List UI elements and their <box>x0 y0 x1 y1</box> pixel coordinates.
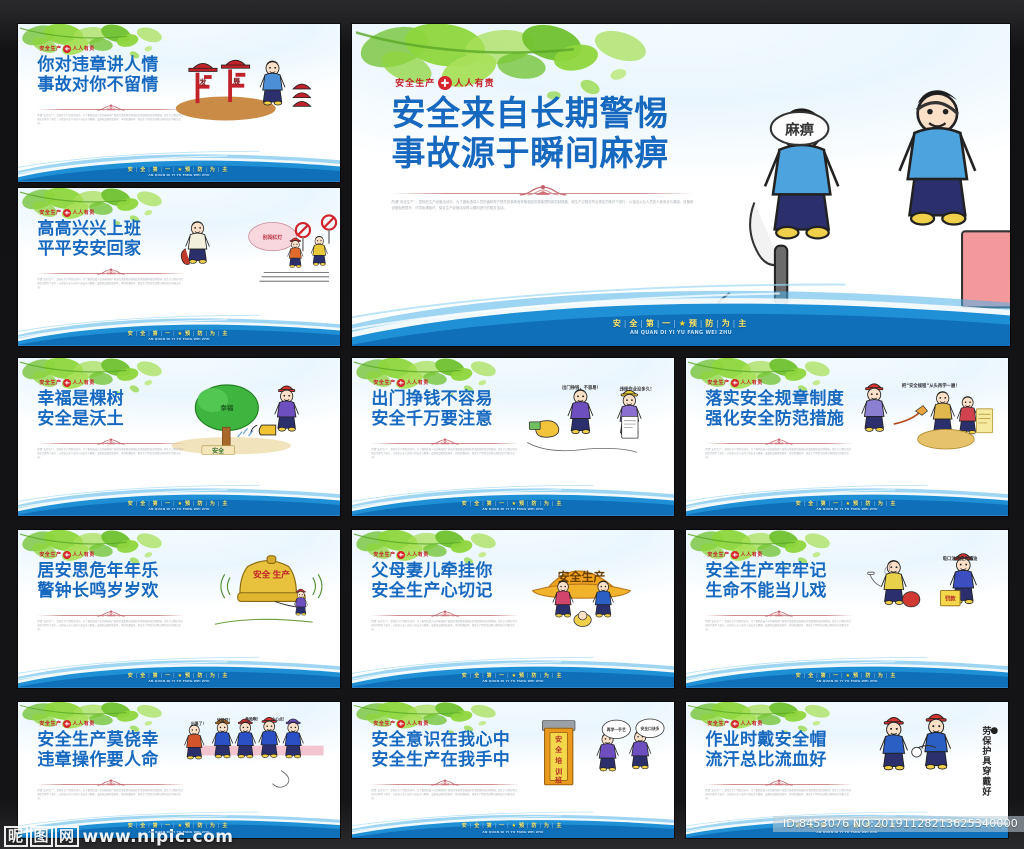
footer-cn-char: 主 <box>222 331 230 337</box>
ornament-divider <box>391 183 694 199</box>
ornament-knot-icon <box>428 778 462 788</box>
footer-cn-char: 防 <box>705 319 716 328</box>
safety-badge: 安全生产 人人有责 <box>705 379 853 387</box>
poster-panel[interactable]: 麻痹 安全生产 人人有责 <box>352 24 1010 346</box>
footer-slogan-cn: 安|全|第|一|★预|防|为|主 <box>18 166 340 173</box>
poster-panel[interactable]: 安 全 培 训 班 <box>352 702 674 838</box>
footer-cn-char: 预 <box>185 501 193 507</box>
svg-text:再学一手艺: 再学一手艺 <box>607 727 626 732</box>
footer-cn-char: 主 <box>222 167 230 173</box>
panel-headline: 居安思危年年乐 警钟长鸣岁岁欢 <box>37 561 185 601</box>
panel-artwork: 安全生产 <box>500 539 674 643</box>
footer-cn-char: 第 <box>153 167 161 173</box>
badge-left-text: 安全生产 <box>707 720 729 727</box>
headline-line-1: 作业时戴安全帽 <box>705 730 853 750</box>
panel-text-column: 安全生产 人人有责 父母妻儿牵挂你 安全生产心切记 所谓“安全生产”，是指在生产… <box>371 551 519 632</box>
panel-text-column: 安全生产 人人有责 落实安全规章制度 强化安全防范措施 所谓“安全生产”，是指在… <box>705 379 853 460</box>
footer-cn-char: 主 <box>738 319 749 328</box>
panel-text-column: 安全生产 人人有责 高高兴兴上班 平平安安回家 所谓“安全生产”，是指在生产经营… <box>37 209 185 290</box>
footer-cn-char: 预 <box>185 167 193 173</box>
footer-cn-char: 全 <box>140 673 148 679</box>
panel-headline: 出门挣钱不容易 安全千万要注意 <box>371 389 519 429</box>
headline-line-1: 幸福是棵树 <box>37 389 185 409</box>
poster-sheet-background: 发 展 <box>0 0 1024 849</box>
footer-slogan-cn: 安|全|第|一|★预|防|为|主 <box>686 672 1008 679</box>
panel-text-column: 安全生产 人人有责 居安思危年年乐 警钟长鸣岁岁欢 所谓“安全生产”，是指在生产… <box>37 551 185 632</box>
footer-cn-char: 第 <box>487 823 495 829</box>
panel-footer: 安|全|第|一|★预|防|为|主 AN QUAN DI YI YU FANG W… <box>686 500 1008 512</box>
footer-slogan-cn: 安|全|第|一|★预|防|为|主 <box>686 500 1008 507</box>
footer-cn-char: 预 <box>185 331 193 337</box>
footer-cn-char: 预 <box>519 823 527 829</box>
footer-cn-char: 为 <box>878 501 886 507</box>
footer-star-icon: ★ <box>178 673 185 679</box>
footer-star-icon: ★ <box>846 673 853 679</box>
footer-star-icon: ★ <box>846 501 853 507</box>
headline-line-1: 落实安全规章制度 <box>705 389 853 409</box>
ornament-knot-icon <box>762 609 796 619</box>
footer-cn-char: 安 <box>796 501 804 507</box>
panel-footer: 安|全|第|一|★预|防|为|主 AN QUAN DI YI YU FANG W… <box>352 500 674 512</box>
panel-artwork: 幸福 安全 <box>166 367 340 471</box>
footer-slogan-pinyin: AN QUAN DI YI YU FANG WEI ZHU <box>352 679 674 683</box>
footer-star-icon: ★ <box>178 167 185 173</box>
footer-cn-char: 安 <box>462 673 470 679</box>
panel-headline: 安全生产莫侥幸 违章操作要人命 <box>37 730 185 770</box>
ornament-knot-icon <box>428 437 462 447</box>
panel-blurb: 所谓“安全生产”，是指在生产经营活动中，为了避免造成人员伤害和财产损失的事故而采… <box>37 114 185 125</box>
poster-panel[interactable]: 安全 生产 安全生产 <box>18 530 340 688</box>
panel-blurb: 所谓“安全生产”，是指在生产经营活动中，为了避免造成人员伤害和财产损失的事故而采… <box>371 620 519 631</box>
badge-right-text: 人人有责 <box>73 379 95 386</box>
safety-badge: 安全生产 人人有责 <box>391 76 694 90</box>
watermark-cn-char: 图 <box>30 826 54 847</box>
headline-line-1: 父母妻儿牵挂你 <box>371 561 519 581</box>
svg-text:出门挣钱，不容易！: 出门挣钱，不容易！ <box>562 385 601 392</box>
footer-cn-char: 一 <box>833 501 841 507</box>
panel-footer: 安|全|第|一|★预|防|为|主 AN QUAN DI YI YU FANG W… <box>352 672 674 684</box>
footer-cn-char: 第 <box>487 673 495 679</box>
footer-cn-char: 第 <box>646 319 657 328</box>
poster-panel[interactable]: 出门挣钱，不容易！ 违规作业没多久！ 安全生产 人人有责 出门挣钱不容易 安全千… <box>352 358 674 516</box>
footer-slogan-pinyin: AN QUAN DI YI YU FANG WEI ZHU <box>18 173 340 177</box>
badge-right-text: 人人有责 <box>73 45 95 52</box>
svg-text:班: 班 <box>555 776 562 785</box>
ornament-divider <box>371 609 519 619</box>
headline-line-1: 安全生产莫侥幸 <box>37 730 185 750</box>
panel-footer: 安|全|第|一|★预|防|为|主 AN QUAN DI YI YU FANG W… <box>352 318 1010 336</box>
ornament-divider <box>37 609 185 619</box>
footer-star-icon: ★ <box>512 673 519 679</box>
footer-cn-char: 一 <box>499 673 507 679</box>
footer-slogan-pinyin: AN QUAN DI YI YU FANG WEI ZHU <box>686 507 1008 511</box>
safety-badge: 安全生产 人人有责 <box>37 209 185 217</box>
badge-left-text: 安全生产 <box>373 720 395 727</box>
image-id-strip: ID:8453076 NO:20191128213625340000 <box>773 816 1024 832</box>
badge-left-text: 安全生产 <box>39 551 61 558</box>
footer-cn-char: 安 <box>128 501 136 507</box>
panel-blurb: 所谓“安全生产”，是指在生产经营活动中，为了避免造成人员伤害和财产损失的事故而采… <box>37 448 185 459</box>
panel-text-column: 安全生产 人人有责 作业时戴安全帽 流汗总比流血好 所谓“安全生产”，是指在生产… <box>705 720 853 801</box>
bullet-icon: ● <box>989 726 998 797</box>
panel-artwork: 出事了！ 快躲开！ 危险啊！ 小心点！ <box>166 710 340 800</box>
footer-cn-char: 全 <box>140 501 148 507</box>
footer-slogan-cn: 安|全|第|一|★预|防|为|主 <box>352 672 674 679</box>
headline-line-2: 警钟长鸣岁岁欢 <box>37 581 185 601</box>
footer-slogan-cn: 安|全|第|一|★预|防|为|主 <box>18 672 340 679</box>
badge-left-text: 安全生产 <box>39 720 61 727</box>
panel-blurb: 所谓“安全生产”，是指在生产经营活动中，为了避免造成人员伤害和财产损失的事故而采… <box>705 448 853 459</box>
poster-panel[interactable]: 幸福 安全 <box>18 358 340 516</box>
panel-text-column: 安全生产 人人有责 安全来自长期警惕 事故源于瞬间麻痹 所谓“安全生产”，是指在… <box>391 76 694 211</box>
panel-headline: 你对违章讲人情 事故对你不留情 <box>37 55 185 95</box>
panel-blurb: 所谓“安全生产”，是指在生产经营活动中，为了避免造成人员伤害和财产损失的事故而采… <box>705 620 853 631</box>
safety-badge: 安全生产 人人有责 <box>37 45 185 53</box>
footer-cn-char: 主 <box>890 673 898 679</box>
panel-blurb: 所谓“安全生产”，是指在生产经营活动中，为了避免造成人员伤害和财产损失的事故而采… <box>37 278 185 289</box>
footer-cn-char: 一 <box>499 823 507 829</box>
safety-badge: 安全生产 人人有责 <box>371 379 519 387</box>
panel-text-column: 安全生产 人人有责 你对违章讲人情 事故对你不留情 所谓“安全生产”，是指在生产… <box>37 45 185 126</box>
red-cross-medical-icon <box>731 551 739 559</box>
headline-line-2: 事故源于瞬间麻痹 <box>391 134 694 174</box>
footer-cn-char: 安 <box>128 167 136 173</box>
panel-headline: 幸福是棵树 安全是沃土 <box>37 389 185 429</box>
panel-blurb: 所谓“安全生产”，是指在生产经营活动中，为了避免造成人员伤害和财产损失的事故而采… <box>391 200 694 211</box>
footer-cn-char: 一 <box>165 167 173 173</box>
svg-text:出事了！: 出事了！ <box>191 721 206 726</box>
red-cross-medical-icon <box>438 76 452 90</box>
panel-text-column: 安全生产 人人有责 安全生产莫侥幸 违章操作要人命 所谓“安全生产”，是指在生产… <box>37 720 185 801</box>
footer-star-icon: ★ <box>512 501 519 507</box>
footer-slogan-pinyin: AN QUAN DI YI YU FANG WEI ZHU <box>352 830 674 834</box>
site-watermark: 昵图网 www.nipic.com <box>4 826 233 847</box>
headline-line-2: 安全是沃土 <box>37 409 185 429</box>
footer-star-icon: ★ <box>178 331 185 337</box>
footer-cn-char: 为 <box>210 167 218 173</box>
panel-text-column: 安全生产 人人有责 安全意识在我心中 安全生产在我手中 所谓“安全生产”，是指在… <box>371 720 519 801</box>
footer-cn-char: 全 <box>808 501 816 507</box>
footer-cn-char: 为 <box>210 501 218 507</box>
footer-slogan-pinyin: AN QUAN DI YI YU FANG WEI ZHU <box>18 337 340 341</box>
footer-cn-char: 为 <box>878 673 886 679</box>
footer-cn-char: 第 <box>153 501 161 507</box>
poster-panel[interactable]: 罚款 吸口油还是先喝油 安全生产 人人有责 安全生产牢牢记 生命不能当儿戏 所谓… <box>686 530 1008 688</box>
footer-cn-char: 一 <box>499 501 507 507</box>
footer-cn-char: 主 <box>556 673 564 679</box>
panel-headline: 作业时戴安全帽 流汗总比流血好 <box>705 730 853 770</box>
safety-badge: 安全生产 人人有责 <box>37 379 185 387</box>
svg-text:把“安全规程”从头再学一遍！: 把“安全规程”从头再学一遍！ <box>902 383 960 390</box>
badge-right-text: 人人有责 <box>407 379 429 386</box>
footer-cn-char: 预 <box>689 319 700 328</box>
headline-line-2: 安全生产在我手中 <box>371 750 519 770</box>
badge-right-text: 人人有责 <box>73 551 95 558</box>
badge-right-text: 人人有责 <box>407 551 429 558</box>
headline-line-2: 违章操作要人命 <box>37 750 185 770</box>
headline-line-2: 安全千万要注意 <box>371 409 519 429</box>
badge-right-text: 人人有责 <box>454 76 494 89</box>
panel-headline: 安全来自长期警惕 事故源于瞬间麻痹 <box>391 94 694 174</box>
panel-footer: 安|全|第|一|★预|防|为|主 AN QUAN DI YI YU FANG W… <box>18 166 340 178</box>
badge-left-text: 安全生产 <box>707 379 729 386</box>
svg-text:培: 培 <box>555 756 562 765</box>
badge-left-text: 安全生产 <box>373 379 395 386</box>
footer-slogan-pinyin: AN QUAN DI YI YU FANG WEI ZHU <box>686 679 1008 683</box>
ornament-divider <box>37 437 185 447</box>
badge-right-text: 人人有责 <box>73 720 95 727</box>
headline-line-2: 强化安全防范措施 <box>705 409 853 429</box>
headline-line-2: 平平安安回家 <box>37 239 185 259</box>
panel-footer: 安|全|第|一|★预|防|为|主 AN QUAN DI YI YU FANG W… <box>18 500 340 512</box>
poster-panel[interactable]: 把“安全规程”从头再学一遍！ 安全生产 人人有责 落实安全规章制度 强化安全防范… <box>686 358 1008 516</box>
footer-cn-char: 第 <box>821 501 829 507</box>
watermark-cn-char: 网 <box>55 826 79 847</box>
svg-text:安全: 安全 <box>212 447 225 455</box>
svg-text:小心点！: 小心点！ <box>271 717 287 722</box>
vertical-slogan: ●劳保护具穿戴好 <box>980 726 998 797</box>
footer-cn-char: 安 <box>613 319 624 328</box>
headline-line-1: 安全来自长期警惕 <box>391 94 694 134</box>
panel-headline: 安全生产牢牢记 生命不能当儿戏 <box>705 561 853 601</box>
ornament-divider <box>37 103 185 113</box>
panel-footer: 安|全|第|一|★预|防|为|主 AN QUAN DI YI YU FANG W… <box>686 672 1008 684</box>
badge-left-text: 安全生产 <box>373 551 395 558</box>
footer-slogan-cn: 安|全|第|一|★预|防|为|主 <box>352 318 1010 329</box>
footer-cn-char: 全 <box>474 823 482 829</box>
footer-cn-char: 一 <box>165 331 173 337</box>
footer-slogan-cn: 安|全|第|一|★预|防|为|主 <box>18 500 340 507</box>
footer-cn-char: 主 <box>222 673 230 679</box>
poster-panel[interactable]: 发 展 <box>18 24 340 182</box>
footer-cn-char: 第 <box>821 673 829 679</box>
svg-text:全: 全 <box>554 745 563 754</box>
badge-right-text: 人人有责 <box>741 551 763 558</box>
footer-cn-char: 为 <box>722 319 733 328</box>
ornament-knot-icon <box>94 267 128 277</box>
svg-text:展: 展 <box>232 77 241 86</box>
headline-line-1: 安全意识在我心中 <box>371 730 519 750</box>
svg-text:训: 训 <box>555 767 562 776</box>
footer-cn-char: 安 <box>462 501 470 507</box>
svg-text:幸福: 幸福 <box>220 403 234 412</box>
svg-text:安全: 安全 <box>253 569 271 581</box>
panel-headline: 高高兴兴上班 平平安安回家 <box>37 219 185 259</box>
svg-text:快躲开！: 快躲开！ <box>217 718 232 723</box>
panel-artwork: 出门挣钱，不容易！ 违规作业没多久！ <box>500 367 674 471</box>
red-cross-medical-icon <box>731 720 739 728</box>
footer-cn-char: 预 <box>853 501 861 507</box>
badge-right-text: 人人有责 <box>741 379 763 386</box>
panel-artwork: 别闯红灯 <box>166 197 340 301</box>
safety-badge: 安全生产 人人有责 <box>371 551 519 559</box>
safety-badge: 安全生产 人人有责 <box>705 720 853 728</box>
footer-cn-char: 第 <box>153 331 161 337</box>
red-cross-medical-icon <box>63 379 71 387</box>
panel-text-column: 安全生产 人人有责 出门挣钱不容易 安全千万要注意 所谓“安全生产”，是指在生产… <box>371 379 519 460</box>
headline-line-2: 流汗总比流血好 <box>705 750 853 770</box>
footer-cn-char: 全 <box>808 673 816 679</box>
svg-text:安全口诀多: 安全口诀多 <box>641 726 660 731</box>
headline-line-1: 居安思危年年乐 <box>37 561 185 581</box>
panel-headline: 落实安全规章制度 强化安全防范措施 <box>705 389 853 429</box>
footer-cn-char: 安 <box>128 673 136 679</box>
svg-text:安: 安 <box>555 734 562 743</box>
panel-blurb: 所谓“安全生产”，是指在生产经营活动中，为了避免造成人员伤害和财产损失的事故而采… <box>371 448 519 459</box>
footer-slogan-pinyin: AN QUAN DI YI YU FANG WEI ZHU <box>18 507 340 511</box>
footer-slogan-cn: 安|全|第|一|★预|防|为|主 <box>18 330 340 337</box>
footer-cn-char: 主 <box>222 501 230 507</box>
svg-text:违规作业没多久！: 违规作业没多久！ <box>620 386 655 393</box>
footer-cn-char: 主 <box>556 823 564 829</box>
footer-slogan-pinyin: AN QUAN DI YI YU FANG WEI ZHU <box>18 679 340 683</box>
ornament-knot-icon <box>94 437 128 447</box>
footer-cn-char: 安 <box>796 673 804 679</box>
ornament-divider <box>705 778 853 788</box>
safety-badge: 安全生产 人人有责 <box>37 720 185 728</box>
red-cross-medical-icon <box>63 45 71 53</box>
red-cross-medical-icon <box>731 379 739 387</box>
footer-cn-char: 预 <box>185 673 193 679</box>
footer-cn-char: 为 <box>544 501 552 507</box>
footer-cn-char: 主 <box>556 501 564 507</box>
red-cross-medical-icon <box>63 720 71 728</box>
panel-headline: 父母妻儿牵挂你 安全生产心切记 <box>371 561 519 601</box>
footer-cn-char: 预 <box>519 501 527 507</box>
footer-cn-char: 为 <box>210 331 218 337</box>
footer-cn-char: 全 <box>474 501 482 507</box>
headline-line-1: 安全生产牢牢记 <box>705 561 853 581</box>
badge-left-text: 安全生产 <box>707 551 729 558</box>
headline-line-2: 事故对你不留情 <box>37 75 185 95</box>
footer-star-icon: ★ <box>512 823 519 829</box>
panel-headline: 安全意识在我心中 安全生产在我手中 <box>371 730 519 770</box>
footer-cn-char: 为 <box>544 673 552 679</box>
ornament-knot-icon <box>762 778 796 788</box>
badge-left-text: 安全生产 <box>395 76 435 89</box>
svg-text:别闯红灯: 别闯红灯 <box>262 234 283 241</box>
footer-cn-char: 一 <box>165 501 173 507</box>
badge-left-text: 安全生产 <box>39 209 61 216</box>
ornament-divider <box>705 437 853 447</box>
footer-cn-char: 全 <box>140 167 148 173</box>
svg-text:生产: 生产 <box>273 569 291 581</box>
footer-cn-char: 一 <box>165 673 173 679</box>
ornament-divider <box>37 778 185 788</box>
headline-line-1: 高高兴兴上班 <box>37 219 185 239</box>
footer-cn-char: 全 <box>474 673 482 679</box>
footer-slogan-cn: 安|全|第|一|★预|防|为|主 <box>352 500 674 507</box>
headline-line-2: 生命不能当儿戏 <box>705 581 853 601</box>
watermark-cn-logo: 昵图网 <box>4 826 79 847</box>
footer-slogan-pinyin: AN QUAN DI YI YU FANG WEI ZHU <box>352 330 1010 336</box>
badge-right-text: 人人有责 <box>741 720 763 727</box>
svg-text:危险啊！: 危险啊！ <box>244 717 260 722</box>
safety-badge: 安全生产 人人有责 <box>371 720 519 728</box>
red-cross-medical-icon <box>397 379 405 387</box>
footer-cn-char: 第 <box>487 501 495 507</box>
ornament-knot-icon <box>94 103 128 113</box>
ornament-divider <box>705 609 853 619</box>
ornament-knot-icon <box>428 609 462 619</box>
footer-cn-char: 一 <box>662 319 673 328</box>
footer-cn-char: 预 <box>853 673 861 679</box>
headline-line-1: 出门挣钱不容易 <box>371 389 519 409</box>
ornament-knot-icon <box>94 778 128 788</box>
svg-text:发: 发 <box>199 78 208 87</box>
panel-artwork: 发 展 <box>166 33 340 137</box>
footer-cn-char: 预 <box>519 673 527 679</box>
red-cross-medical-icon <box>63 551 71 559</box>
footer-cn-char: 主 <box>890 501 898 507</box>
poster-panel[interactable]: 出事了！ 快躲开！ 危险啊！ 小心点！ 安全生产 人人有责 安全生产莫侥幸 违章… <box>18 702 340 838</box>
watermark-url: www.nipic.com <box>83 827 234 847</box>
panel-blurb: 所谓“安全生产”，是指在生产经营活动中，为了避免造成人员伤害和财产损失的事故而采… <box>37 620 185 631</box>
panel-text-column: 安全生产 人人有责 安全生产牢牢记 生命不能当儿戏 所谓“安全生产”，是指在生产… <box>705 551 853 632</box>
ornament-divider <box>371 778 519 788</box>
watermark-cn-char: 昵 <box>4 826 28 847</box>
panel-footer: 安|全|第|一|★预|防|为|主 AN QUAN DI YI YU FANG W… <box>352 822 674 834</box>
badge-left-text: 安全生产 <box>39 45 61 52</box>
panel-artwork: 安全 生产 <box>166 539 340 643</box>
panel-footer: 安|全|第|一|★预|防|为|主 AN QUAN DI YI YU FANG W… <box>18 330 340 342</box>
svg-text:麻痹: 麻痹 <box>784 121 814 139</box>
red-cross-medical-icon <box>397 551 405 559</box>
footer-cn-char: 为 <box>210 673 218 679</box>
poster-panel[interactable]: 安全生产 <box>352 530 674 688</box>
panel-artwork: 安 全 培 训 班 <box>500 710 674 800</box>
panel-artwork: 把“安全规程”从头再学一遍！ <box>834 367 1008 471</box>
ornament-knot-icon <box>514 183 572 199</box>
ornament-divider <box>371 437 519 447</box>
safety-badge: 安全生产 人人有责 <box>705 551 853 559</box>
panel-text-column: 安全生产 人人有责 幸福是棵树 安全是沃土 所谓“安全生产”，是指在生产经营活动… <box>37 379 185 460</box>
headline-line-2: 安全生产心切记 <box>371 581 519 601</box>
poster-grid: 发 展 <box>0 0 1024 849</box>
panel-artwork: 罚款 吸口油还是先喝油 <box>834 539 1008 643</box>
footer-cn-char: 为 <box>544 823 552 829</box>
poster-panel[interactable]: 别闯红灯 <box>18 188 340 346</box>
badge-right-text: 人人有责 <box>73 209 95 216</box>
footer-cn-char: 一 <box>833 673 841 679</box>
footer-star-icon: ★ <box>679 319 689 328</box>
ornament-knot-icon <box>94 609 128 619</box>
badge-right-text: 人人有责 <box>407 720 429 727</box>
ornament-knot-icon <box>762 437 796 447</box>
headline-line-1: 你对违章讲人情 <box>37 55 185 75</box>
badge-left-text: 安全生产 <box>39 379 61 386</box>
panel-footer: 安|全|第|一|★预|防|为|主 AN QUAN DI YI YU FANG W… <box>18 672 340 684</box>
footer-cn-char: 全 <box>140 331 148 337</box>
ornament-divider <box>37 267 185 277</box>
safety-badge: 安全生产 人人有责 <box>37 551 185 559</box>
footer-cn-char: 安 <box>462 823 470 829</box>
red-cross-medical-icon <box>63 209 71 217</box>
footer-slogan-pinyin: AN QUAN DI YI YU FANG WEI ZHU <box>352 507 674 511</box>
footer-cn-char: 安 <box>128 331 136 337</box>
footer-cn-char: 全 <box>629 319 640 328</box>
footer-star-icon: ★ <box>178 501 185 507</box>
red-cross-medical-icon <box>397 720 405 728</box>
footer-slogan-cn: 安|全|第|一|★预|防|为|主 <box>352 822 674 829</box>
footer-cn-char: 第 <box>153 673 161 679</box>
